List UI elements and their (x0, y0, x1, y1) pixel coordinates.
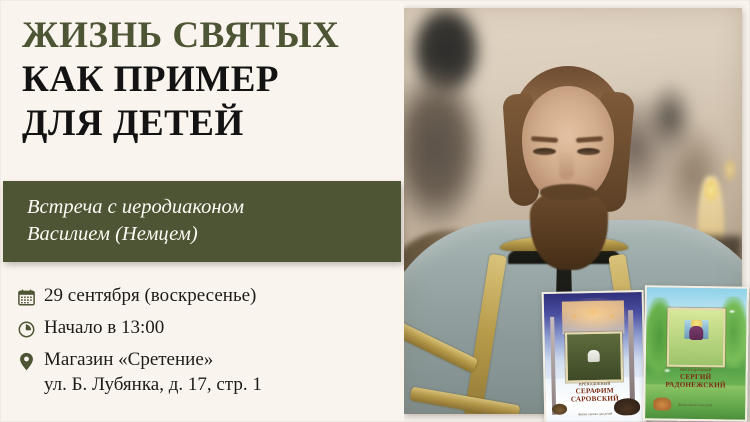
detail-text-date: 29 сентября (воскресенье) (44, 283, 256, 308)
beard (530, 190, 608, 270)
book2-bird-1 (729, 309, 736, 313)
book1-church (561, 300, 624, 335)
event-poster: ЖИЗНЬ СВЯТЫХ КАК ПРИМЕР ДЛЯ ДЕТЕЙ (0, 0, 750, 422)
title-line-2: КАК ПРИМЕР (22, 58, 392, 102)
title-line-3: ДЛЯ ДЕТЕЙ (22, 102, 392, 146)
subtitle-line-2: Василием (Немцем) (27, 221, 387, 248)
subtitle-band: Встреча с иеродиаконом Василием (Немцем) (3, 181, 401, 262)
subtitle-line-1: Встреча с иеродиаконом (27, 194, 387, 221)
book1-saint-figure (588, 350, 600, 361)
mustache (540, 184, 596, 200)
book-cover-serafim-sarovsky: ПРЕПОДОБНЫЙ СЕРАФИМ САРОВСКИЙ Житие свят… (542, 290, 647, 422)
book2-saint-figure (689, 326, 703, 340)
event-details-list: 29 сентября (воскресенье) Начало в 13:00 (18, 283, 398, 403)
book1-icon-frame (565, 331, 623, 383)
book2-title: ПРЕПОДОБНЫЙ СЕРГИЙ РАДОНЕЖСКИЙ (654, 369, 736, 391)
eye-right (577, 148, 600, 155)
title-line-1: ЖИЗНЬ СВЯТЫХ (22, 14, 392, 58)
book1-title: ПРЕПОДОБНЫЙ СЕРАФИМ САРОВСКИЙ (554, 382, 635, 404)
book2-title-line-2: РАДОНЕЖСКИЙ (654, 381, 736, 390)
nose (559, 150, 574, 180)
poster-title: ЖИЗНЬ СВЯТЫХ КАК ПРИМЕР ДЛЯ ДЕТЕЙ (22, 14, 392, 146)
clock-icon (18, 315, 44, 341)
detail-row-date: 29 сентября (воскресенье) (18, 283, 398, 309)
subtitle-text: Встреча с иеродиаконом Василием (Немцем) (27, 194, 387, 248)
detail-row-location: Магазин «Сретение» ул. Б. Лубянка, д. 17… (18, 347, 398, 397)
book-cover-sergiy-radonezhsky: ПРЕПОДОБНЫЙ СЕРГИЙ РАДОНЕЖСКИЙ Житие свя… (643, 285, 749, 421)
book2-icon-frame (667, 307, 726, 367)
book-covers-group: ПРЕПОДОБНЫЙ СЕРАФИМ САРОВСКИЙ Житие свят… (540, 283, 750, 422)
detail-text-time: Начало в 13:00 (44, 315, 164, 340)
detail-row-time: Начало в 13:00 (18, 315, 398, 341)
eye-left (533, 148, 556, 155)
location-pin-icon (18, 347, 44, 373)
calendar-icon (18, 283, 44, 309)
detail-text-location: Магазин «Сретение» ул. Б. Лубянка, д. 17… (44, 347, 262, 397)
